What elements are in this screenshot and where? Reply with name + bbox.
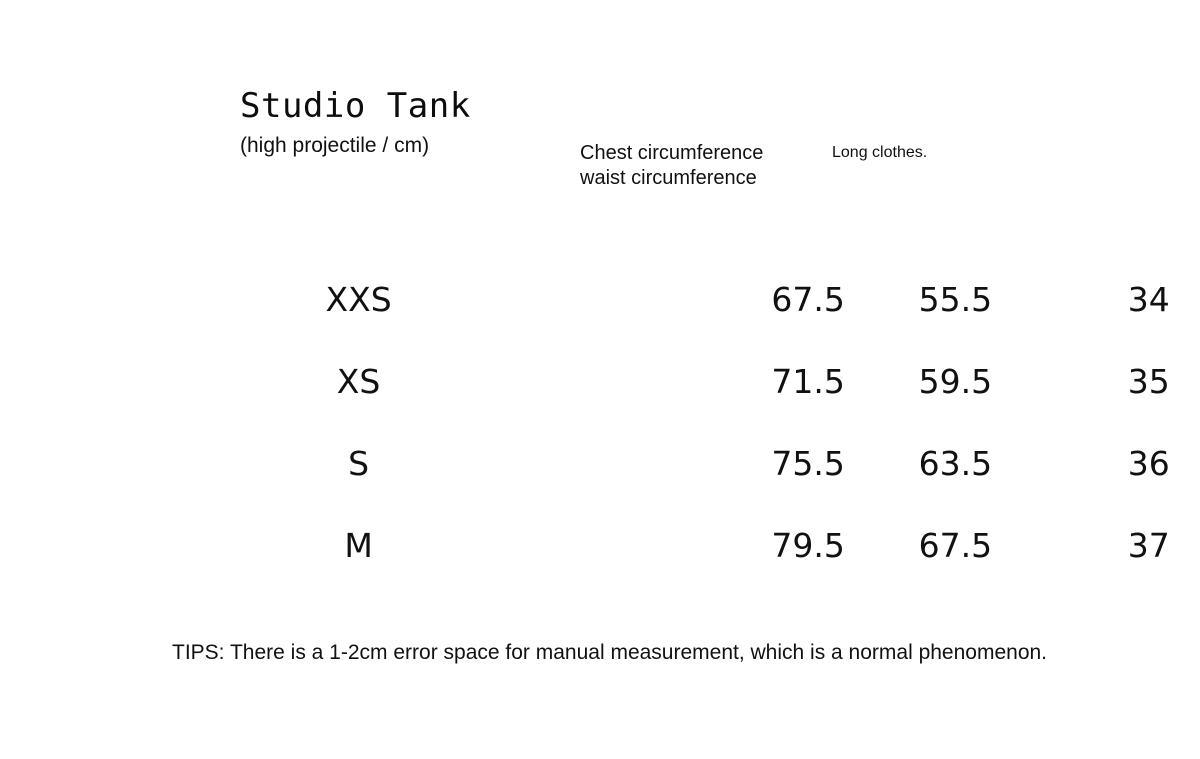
cell-chest: 67.5 — [736, 258, 879, 340]
cell-chest: 71.5 — [736, 340, 879, 422]
row-spacer — [0, 422, 295, 504]
row-gap-2 — [1031, 422, 1098, 504]
page-title: Studio Tank — [240, 86, 760, 126]
cell-size: XS — [295, 340, 423, 422]
table-row: XXS 67.5 55.5 34 — [0, 258, 1200, 340]
cell-size: XXS — [295, 258, 423, 340]
column-header-measurements: Chest circumference waist circumference — [580, 141, 763, 191]
size-chart-body: XXS 67.5 55.5 34 XS 71.5 59.5 35 S — [0, 258, 1200, 586]
cell-waist: 55.5 — [880, 258, 1031, 340]
cell-size: S — [295, 422, 423, 504]
cell-length: 35 — [1098, 340, 1200, 422]
table-row: M 79.5 67.5 37 — [0, 504, 1200, 586]
table-row: S 75.5 63.5 36 — [0, 422, 1200, 504]
cell-length: 37 — [1098, 504, 1200, 586]
row-spacer — [0, 258, 295, 340]
column-header-waist: waist circumference — [580, 166, 763, 191]
row-spacer — [0, 504, 295, 586]
cell-size: M — [295, 504, 423, 586]
cell-chest: 79.5 — [736, 504, 879, 586]
cell-length: 36 — [1098, 422, 1200, 504]
row-gap-2 — [1031, 504, 1098, 586]
cell-waist: 59.5 — [880, 340, 1031, 422]
row-gap — [423, 504, 737, 586]
row-gap-2 — [1031, 340, 1098, 422]
row-gap — [423, 422, 737, 504]
size-chart-page: Studio Tank (high projectile / cm) Chest… — [0, 0, 1200, 759]
cell-length: 34 — [1098, 258, 1200, 340]
cell-waist: 63.5 — [880, 422, 1031, 504]
tips-note: TIPS: There is a 1-2cm error space for m… — [172, 640, 1047, 666]
cell-chest: 75.5 — [736, 422, 879, 504]
column-header-length: Long clothes. — [832, 143, 927, 163]
row-gap-2 — [1031, 258, 1098, 340]
column-header-chest: Chest circumference — [580, 141, 763, 166]
row-gap — [423, 340, 737, 422]
size-chart-table: XXS 67.5 55.5 34 XS 71.5 59.5 35 S — [0, 258, 1200, 586]
table-row: XS 71.5 59.5 35 — [0, 340, 1200, 422]
row-gap — [423, 258, 737, 340]
row-spacer — [0, 340, 295, 422]
cell-waist: 67.5 — [880, 504, 1031, 586]
